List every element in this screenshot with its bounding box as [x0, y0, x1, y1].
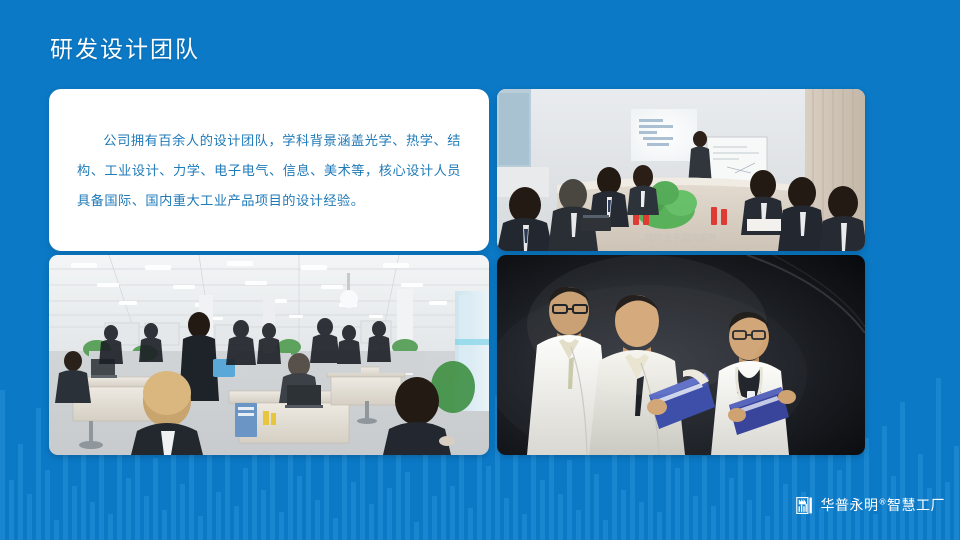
factory-bars-icon — [796, 496, 815, 515]
pattern-bar — [900, 402, 905, 540]
pattern-bar — [657, 512, 662, 540]
pattern-bar — [72, 486, 77, 540]
pattern-bar — [567, 460, 572, 540]
pattern-bar — [414, 522, 419, 540]
meeting-room-illustration: 均毕业于国内国外 — [497, 89, 865, 251]
pattern-bar — [27, 494, 32, 540]
brand-logo-text: 华普永明®智慧工厂 — [821, 495, 946, 515]
brand-name: 华普永明 — [821, 498, 879, 514]
pattern-bar — [216, 492, 221, 540]
pattern-bar — [234, 506, 239, 540]
pattern-bar — [702, 456, 707, 540]
pattern-bar — [693, 496, 698, 540]
pattern-bar — [639, 502, 644, 540]
pattern-bar — [513, 446, 518, 540]
pattern-bar — [648, 440, 653, 540]
pattern-bar — [864, 438, 869, 540]
description-paragraph: 公司拥有百余人的设计团队，学科背景涵盖光学、热学、结构、工业设计、力学、电子电气… — [77, 127, 461, 217]
brand-suffix: 智慧工厂 — [887, 498, 945, 514]
pattern-bar — [594, 474, 599, 540]
brand-logo: 华普永明®智慧工厂 — [796, 495, 946, 515]
pattern-bar — [243, 468, 248, 540]
pattern-bar — [369, 504, 374, 540]
pattern-bar — [90, 502, 95, 540]
pattern-bar — [576, 510, 581, 540]
pattern-bar — [954, 446, 959, 540]
pattern-bar — [153, 458, 158, 540]
pattern-bar — [936, 378, 941, 540]
page-title: 研发设计团队 — [50, 30, 200, 64]
pattern-bar — [18, 444, 23, 540]
pattern-bar — [315, 500, 320, 540]
engineers-lab-illustration — [497, 255, 865, 455]
pattern-bar — [468, 508, 473, 540]
pattern-bar — [603, 520, 608, 540]
description-card: 公司拥有百余人的设计团队，学科背景涵盖光学、热学、结构、工业设计、力学、电子电气… — [49, 89, 489, 251]
pattern-bar — [261, 490, 266, 540]
pattern-bar — [45, 470, 50, 540]
pattern-bar — [882, 426, 887, 540]
pattern-bar — [540, 480, 545, 540]
pattern-bar — [126, 478, 131, 540]
pattern-bar — [378, 442, 383, 540]
pattern-bar — [675, 468, 680, 540]
pattern-bar — [450, 486, 455, 540]
pattern-bar — [279, 512, 284, 540]
photo-overlay-text: 均毕业于国内国外 — [645, 232, 717, 244]
pattern-bar — [756, 444, 761, 540]
pattern-bar — [405, 472, 410, 540]
pattern-bar — [180, 484, 185, 540]
pattern-bar — [36, 408, 41, 540]
pattern-bar — [387, 488, 392, 540]
photo-engineers-lab — [497, 255, 865, 455]
pattern-bar — [621, 490, 626, 540]
pattern-bar — [324, 454, 329, 540]
pattern-bar — [459, 452, 464, 540]
pattern-bar — [765, 516, 770, 540]
pattern-bar — [108, 514, 113, 540]
pattern-bar — [558, 494, 563, 540]
pattern-bar — [9, 480, 14, 540]
pattern-bar — [783, 484, 788, 540]
pattern-bar — [522, 514, 527, 540]
pattern-bar — [711, 506, 716, 540]
pattern-bar — [297, 476, 302, 540]
pattern-bar — [945, 482, 950, 540]
pattern-bar — [351, 482, 356, 540]
open-office-illustration — [49, 255, 489, 455]
pattern-bar — [99, 450, 104, 540]
pattern-bar — [747, 500, 752, 540]
pattern-bar — [162, 510, 167, 540]
pattern-bar — [486, 466, 491, 540]
pattern-bar — [0, 390, 5, 540]
pattern-bar — [504, 498, 509, 540]
pattern-bar — [54, 520, 59, 540]
pattern-bar — [144, 496, 149, 540]
pattern-bar — [729, 478, 734, 540]
pattern-bar — [198, 516, 203, 540]
pattern-bar — [189, 440, 194, 540]
registered-mark: ® — [879, 497, 888, 506]
pattern-bar — [270, 448, 275, 540]
pattern-bar — [432, 496, 437, 540]
pattern-bar — [333, 518, 338, 540]
photo-meeting-room: 均毕业于国内国外 — [497, 89, 865, 251]
pattern-bar — [873, 514, 878, 540]
photo-open-office — [49, 255, 489, 455]
